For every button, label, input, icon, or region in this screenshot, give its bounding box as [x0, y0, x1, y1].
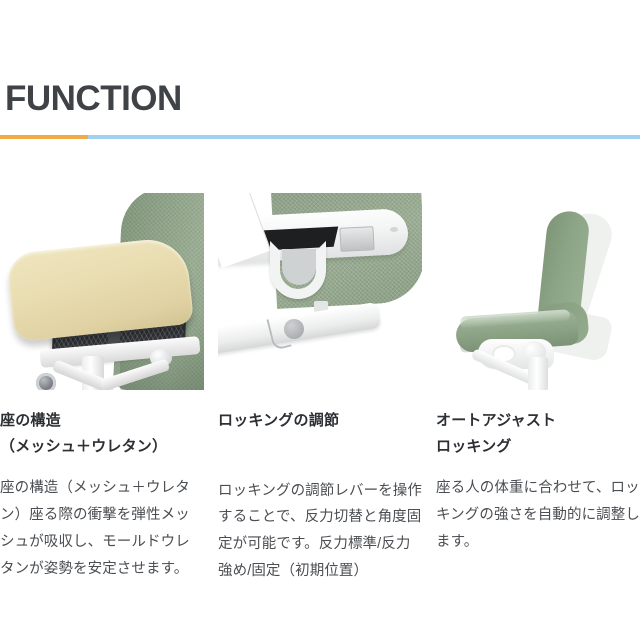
feature-heading: 座の構造 （メッシュ＋ウレタン） [0, 408, 204, 459]
rocking-adjustment-photo [218, 193, 422, 390]
feature-description: 座の構造（メッシュ＋ウレタン）座る際の衝撃を弾性メッシュが吸収し、モールドウレタ… [0, 475, 204, 583]
auto-adjust-rocking-photo [436, 193, 640, 390]
caster-wheel-shape [36, 373, 56, 390]
divider-orange-segment [0, 135, 88, 139]
feature-columns: 座の構造 （メッシュ＋ウレタン） 座の構造（メッシュ＋ウレタン）座る際の衝撃を弾… [0, 193, 640, 585]
gas-lift-column-shape [528, 357, 548, 390]
divider-blue-segment [88, 135, 640, 139]
feature-description: ロッキングの調節レバーを操作することで、反力切替と角度固定が可能です。反力標準/… [218, 478, 422, 586]
page-title: FUNCTION [5, 81, 182, 116]
function-section-page: FUNCTION 座の構造 （メッシュ＋ウレタン） 座の構造（メッシュ＋ウレタン [0, 0, 640, 636]
feature-card-auto-adjust-rocking: オートアジャスト ロッキング 座る人の体重に合わせて、ロッキングの強さを自動的に… [436, 193, 640, 585]
seat-structure-photo [0, 193, 204, 390]
feature-description: 座る人の体重に合わせて、ロッキングの強さを自動的に調整します。 [436, 475, 640, 556]
feature-card-rocking-adjustment: ロッキングの調節 ロッキングの調節レバーを操作することで、反力切替と角度固定が可… [218, 193, 422, 585]
feature-heading: オートアジャスト ロッキング [436, 408, 640, 459]
metal-bracket-shape [339, 226, 374, 252]
housing-screw-dot-shape [390, 227, 398, 232]
beige-urethane-cushion-shape [6, 236, 194, 342]
hook-inner-shadow-shape [282, 249, 316, 285]
title-underline-divider [0, 135, 640, 139]
feature-heading: ロッキングの調節 [218, 408, 422, 434]
feature-card-seat-structure: 座の構造 （メッシュ＋ウレタン） 座の構造（メッシュ＋ウレタン）座る際の衝撃を弾… [0, 193, 204, 585]
